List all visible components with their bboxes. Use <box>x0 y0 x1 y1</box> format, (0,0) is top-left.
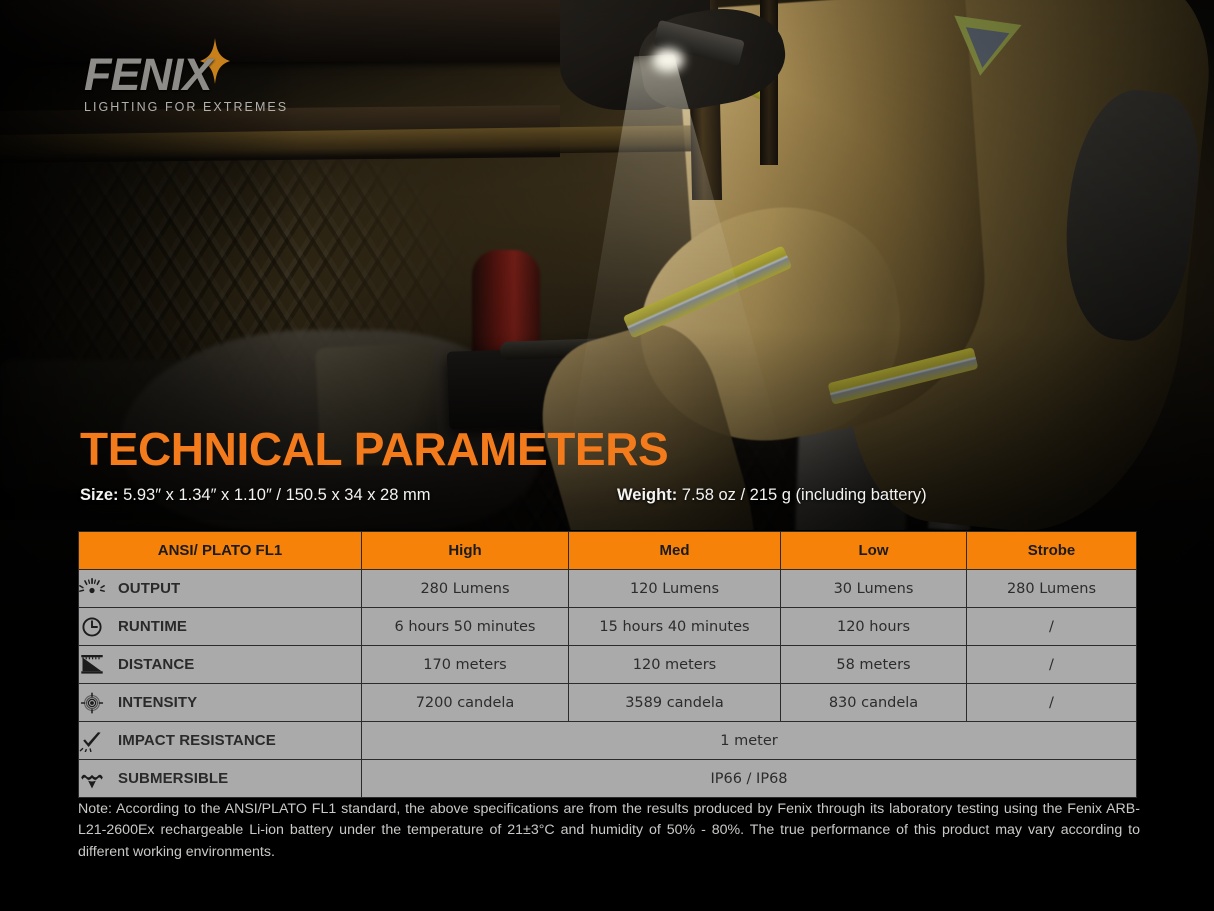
target-intensity-icon <box>79 692 105 714</box>
column-header-high: High <box>362 532 569 570</box>
value-cell: 3589 candela <box>569 684 781 722</box>
row-label-cell: RUNTIME <box>79 608 362 646</box>
value-cell: / <box>967 608 1137 646</box>
beam-distance-icon <box>79 654 105 676</box>
table-row: RUNTIME6 hours 50 minutes15 hours 40 min… <box>79 608 1137 646</box>
size-value: 5.93″ x 1.34″ x 1.10″ / 150.5 x 34 x 28 … <box>123 486 430 504</box>
row-label: INTENSITY <box>118 694 197 711</box>
cell-value: 170 meters <box>423 657 506 673</box>
size-label: Size: <box>80 486 123 504</box>
footnote: Note: According to the ANSI/PLATO FL1 st… <box>78 799 1140 863</box>
cell-value: 7200 candela <box>416 695 515 711</box>
table-row: DISTANCE170 meters120 meters58 meters/ <box>79 646 1137 684</box>
cell-value: 280 Lumens <box>420 581 509 597</box>
weight-spec: Weight: 7.58 oz / 215 g (including batte… <box>617 486 1140 506</box>
weight-value: 7.58 oz / 215 g (including battery) <box>682 486 927 504</box>
cell-value: 3589 candela <box>625 695 724 711</box>
cell-value: IP66 / IP68 <box>710 771 787 787</box>
value-cell: 120 hours <box>781 608 967 646</box>
row-label: RUNTIME <box>118 618 187 635</box>
value-cell: 120 meters <box>569 646 781 684</box>
row-label-cell: IMPACT RESISTANCE <box>79 722 362 760</box>
column-header-strobe: Strobe <box>967 532 1137 570</box>
cell-value: / <box>1049 695 1054 711</box>
impact-check-icon <box>79 730 105 752</box>
table-header-row: ANSI/ PLATO FL1 High Med Low Strobe <box>79 532 1137 570</box>
value-cell: 30 Lumens <box>781 570 967 608</box>
row-label-cell: INTENSITY <box>79 684 362 722</box>
logo-tagline: LIGHTING FOR EXTREMES <box>84 100 314 114</box>
column-header-ansi: ANSI/ PLATO FL1 <box>79 532 362 570</box>
row-label: DISTANCE <box>118 656 194 673</box>
table-body: OUTPUT280 Lumens120 Lumens30 Lumens280 L… <box>79 570 1137 798</box>
weight-label: Weight: <box>617 486 682 504</box>
table-row: IMPACT RESISTANCE1 meter <box>79 722 1137 760</box>
spec-summary-row: Size: 5.93″ x 1.34″ x 1.10″ / 150.5 x 34… <box>80 486 1140 506</box>
cell-value: 1 meter <box>720 733 777 749</box>
value-cell: 280 Lumens <box>362 570 569 608</box>
cell-value: 58 meters <box>836 657 910 673</box>
burst-output-icon <box>79 578 105 600</box>
value-cell: 170 meters <box>362 646 569 684</box>
clock-runtime-icon <box>79 616 105 638</box>
row-label: IMPACT RESISTANCE <box>118 732 276 749</box>
size-spec: Size: 5.93″ x 1.34″ x 1.10″ / 150.5 x 34… <box>80 486 617 506</box>
value-cell: / <box>967 684 1137 722</box>
cell-value: 120 hours <box>837 619 910 635</box>
column-header-med: Med <box>569 532 781 570</box>
value-cell: 7200 candela <box>362 684 569 722</box>
fenix-logo: FENIX LIGHTING FOR EXTREMES <box>84 52 314 114</box>
row-label: OUTPUT <box>118 580 180 597</box>
value-cell: 1 meter <box>362 722 1137 760</box>
cell-value: 830 candela <box>829 695 918 711</box>
cell-value: 6 hours 50 minutes <box>395 619 536 635</box>
value-cell: IP66 / IP68 <box>362 760 1137 798</box>
cell-value: / <box>1049 619 1054 635</box>
cell-value: 30 Lumens <box>834 581 914 597</box>
page-title: TECHNICAL PARAMETERS <box>80 425 668 473</box>
row-label-cell: OUTPUT <box>79 570 362 608</box>
cell-value: 120 meters <box>633 657 716 673</box>
table-row: OUTPUT280 Lumens120 Lumens30 Lumens280 L… <box>79 570 1137 608</box>
value-cell: / <box>967 646 1137 684</box>
value-cell: 58 meters <box>781 646 967 684</box>
cell-value: 15 hours 40 minutes <box>599 619 749 635</box>
table-header: ANSI/ PLATO FL1 High Med Low Strobe <box>79 532 1137 570</box>
value-cell: 6 hours 50 minutes <box>362 608 569 646</box>
value-cell: 830 candela <box>781 684 967 722</box>
technical-parameters-table: ANSI/ PLATO FL1 High Med Low Strobe OUTP… <box>78 531 1137 798</box>
table-row: SUBMERSIBLEIP66 / IP68 <box>79 760 1137 798</box>
logo-wordmark: FENIX <box>84 52 314 97</box>
column-header-low: Low <box>781 532 967 570</box>
row-label-cell: SUBMERSIBLE <box>79 760 362 798</box>
cell-value: 120 Lumens <box>630 581 719 597</box>
cell-value: / <box>1049 657 1054 673</box>
value-cell: 280 Lumens <box>967 570 1137 608</box>
submersible-wave-icon <box>79 768 105 790</box>
value-cell: 15 hours 40 minutes <box>569 608 781 646</box>
row-label-cell: DISTANCE <box>79 646 362 684</box>
table-row: INTENSITY7200 candela3589 candela830 can… <box>79 684 1137 722</box>
cell-value: 280 Lumens <box>1007 581 1096 597</box>
row-label: SUBMERSIBLE <box>118 770 228 787</box>
value-cell: 120 Lumens <box>569 570 781 608</box>
